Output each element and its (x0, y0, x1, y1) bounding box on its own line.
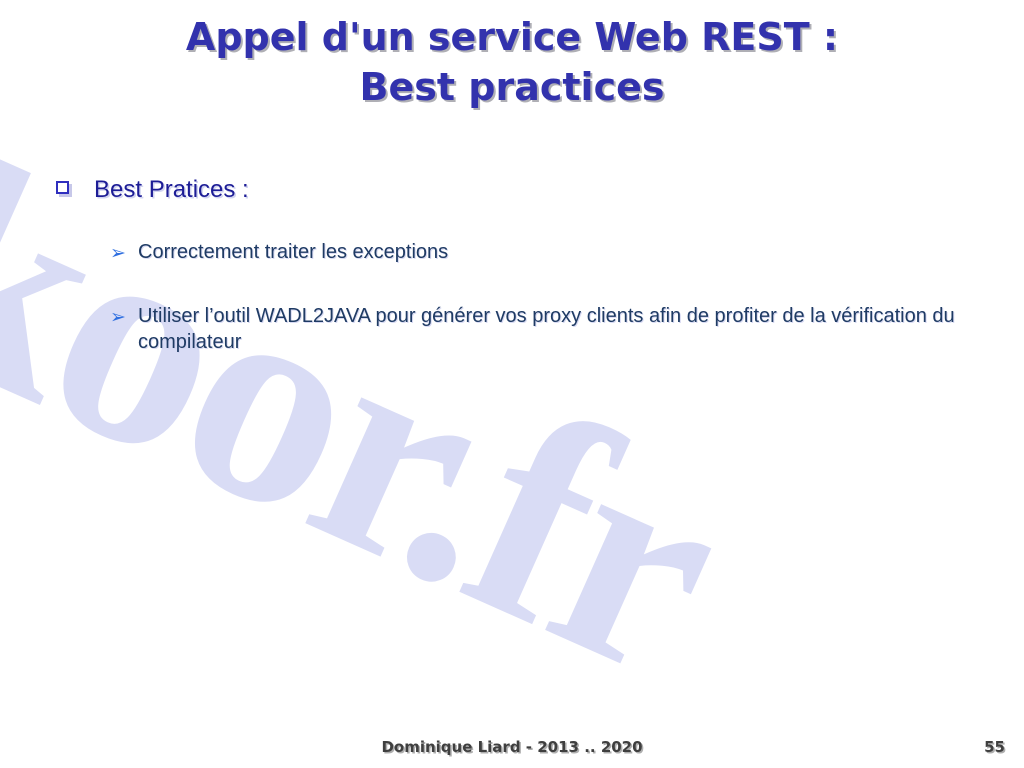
bullet-level2-label: Utiliser l’outil WADL2JAVA pour générer … (138, 303, 988, 355)
footer-author-text: Dominique Liard - 2013 .. 2020 (0, 736, 1024, 758)
title-line-1: Appel d'un service Web REST : (0, 12, 1024, 62)
arrow-bullet-icon: ➢ (110, 240, 130, 266)
bullet-level2-item: ➢ Utiliser l’outil WADL2JAVA pour génére… (0, 303, 1024, 355)
bullet-level2-label: Correctement traiter les exceptions (138, 239, 988, 265)
footer-page-number: 55 (984, 736, 1005, 758)
slide-canvas: koor.fr Appel d'un service Web REST : Be… (0, 0, 1024, 768)
slide-content: Best Pratices : ➢ Correctement traiter l… (0, 175, 1024, 393)
slide-footer: Dominique Liard - 2013 .. 2020 55 (0, 736, 1024, 768)
square-bullet-icon (56, 181, 69, 194)
slide-title: Appel d'un service Web REST : Best pract… (0, 12, 1024, 112)
title-line-2: Best practices (0, 62, 1024, 112)
bullet-level2-item: ➢ Correctement traiter les exceptions (0, 239, 1024, 265)
bullet-level1: Best Pratices : (0, 175, 1024, 205)
arrow-bullet-icon: ➢ (110, 304, 130, 330)
bullet-level1-label: Best Pratices : (94, 175, 249, 205)
